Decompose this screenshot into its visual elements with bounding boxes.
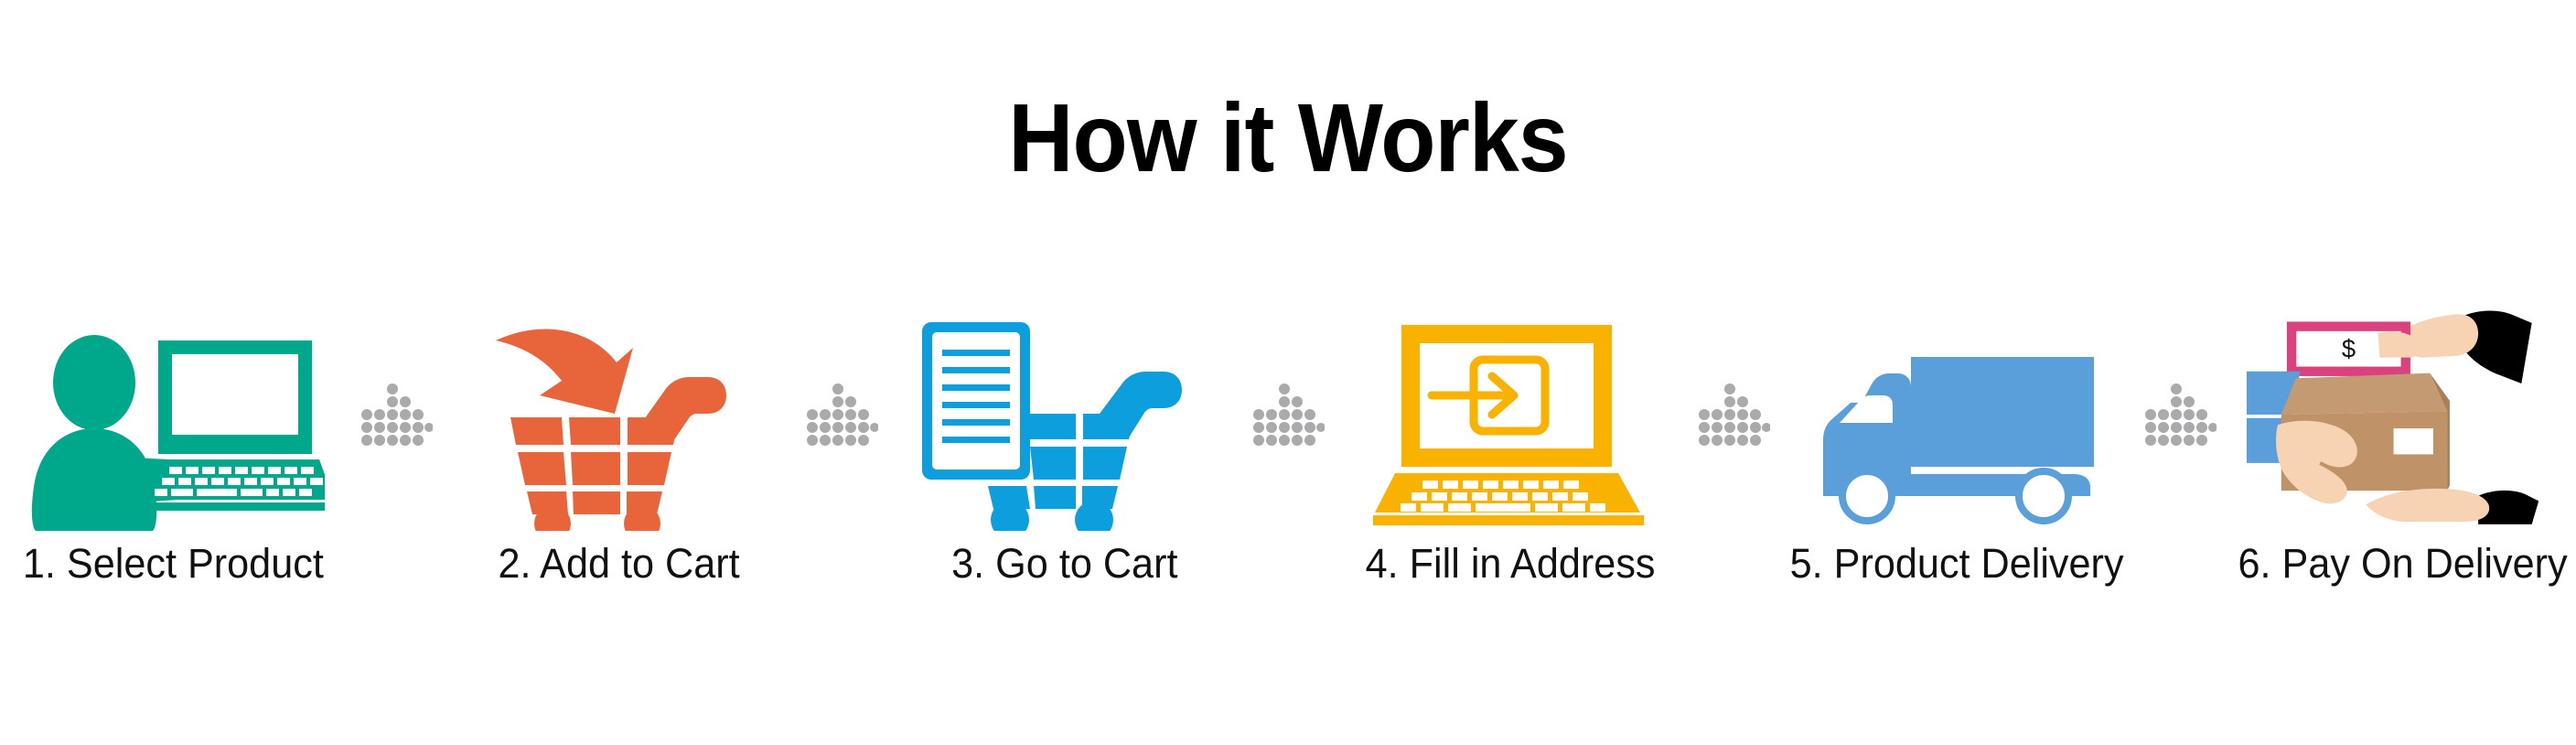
step-4-fill-in-address[interactable]: 4. Fill in Address (1337, 302, 1684, 604)
step-1-label: 1. Select Product (23, 540, 324, 588)
person-with-laptop-icon (18, 302, 329, 531)
document-with-cart-icon (909, 302, 1220, 531)
step-4-label: 4. Fill in Address (1366, 540, 1656, 588)
step-3-go-to-cart[interactable]: 3. Go to Cart (891, 302, 1238, 604)
delivery-truck-icon (1801, 302, 2112, 531)
step-5-label: 5. Product Delivery (1789, 540, 2123, 588)
dotted-arrow-right-icon (1684, 302, 1783, 604)
steps-row: 1. Select Product (0, 302, 2576, 604)
step-3-label: 3. Go to Cart (951, 540, 1177, 588)
how-it-works-infographic: How it Works (0, 0, 2576, 745)
step-6-pay-on-delivery[interactable]: $ (2229, 302, 2576, 604)
step-5-product-delivery[interactable]: 5. Product Delivery (1783, 302, 2131, 604)
cart-with-arrow-icon (464, 302, 775, 531)
dotted-arrow-right-icon (1239, 302, 1337, 604)
step-1-select-product[interactable]: 1. Select Product (0, 302, 347, 604)
page-title: How it Works (91, 88, 2486, 189)
svg-text:$: $ (2342, 335, 2356, 363)
step-2-add-to-cart[interactable]: 2. Add to Cart (445, 302, 792, 604)
dotted-arrow-right-icon (793, 302, 892, 604)
step-2-label: 2. Add to Cart (499, 540, 740, 588)
dotted-arrow-right-icon (2131, 302, 2229, 604)
hands-exchange-package-and-cash-icon: $ (2247, 302, 2558, 531)
laptop-login-icon (1355, 302, 1666, 531)
step-6-label: 6. Pay On Delivery (2238, 540, 2567, 588)
dotted-arrow-right-icon (347, 302, 445, 604)
